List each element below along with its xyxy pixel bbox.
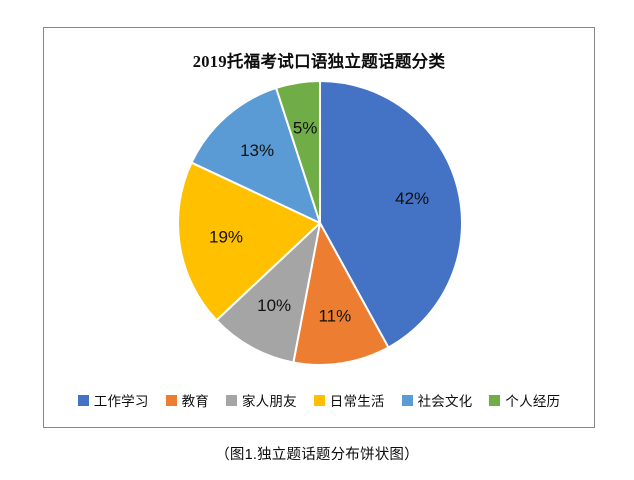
legend-item-日常生活[interactable]: 日常生活	[314, 390, 385, 410]
legend-swatch-icon	[166, 395, 177, 406]
pie-chart-area: 42%11%10%19%13%5%	[44, 78, 596, 373]
pie-data-label-日常生活: 19%	[209, 227, 243, 246]
pie-chart-svg: 42%11%10%19%13%5%	[175, 78, 465, 368]
pie-data-label-教育: 11%	[318, 306, 351, 325]
legend-item-label: 社会文化	[418, 390, 473, 410]
chart-frame: 2019托福考试口语独立题话题分类 42%11%10%19%13%5% 工作学习…	[43, 27, 595, 428]
legend-item-label: 教育	[182, 390, 209, 410]
chart-legend: 工作学习教育家人朋友日常生活社会文化个人经历	[44, 390, 594, 410]
legend-item-社会文化[interactable]: 社会文化	[402, 390, 473, 410]
legend-item-label: 日常生活	[330, 390, 385, 410]
legend-item-家人朋友[interactable]: 家人朋友	[226, 390, 297, 410]
legend-swatch-icon	[489, 395, 500, 406]
legend-item-个人经历[interactable]: 个人经历	[489, 390, 560, 410]
legend-swatch-icon	[78, 395, 89, 406]
legend-item-label: 工作学习	[94, 390, 149, 410]
pie-data-label-工作学习: 42%	[395, 189, 429, 208]
legend-swatch-icon	[226, 395, 237, 406]
legend-item-label: 家人朋友	[242, 390, 297, 410]
legend-item-教育[interactable]: 教育	[166, 390, 209, 410]
legend-item-label: 个人经历	[505, 390, 560, 410]
legend-item-工作学习[interactable]: 工作学习	[78, 390, 149, 410]
figure-caption: （图1.独立题话题分布饼状图）	[0, 443, 634, 464]
pie-data-label-社会文化: 13%	[240, 141, 274, 160]
chart-title: 2019托福考试口语独立题话题分类	[44, 48, 594, 72]
legend-swatch-icon	[402, 395, 413, 406]
pie-data-label-个人经历: 5%	[293, 119, 318, 138]
pie-data-label-家人朋友: 10%	[257, 296, 291, 315]
legend-swatch-icon	[314, 395, 325, 406]
